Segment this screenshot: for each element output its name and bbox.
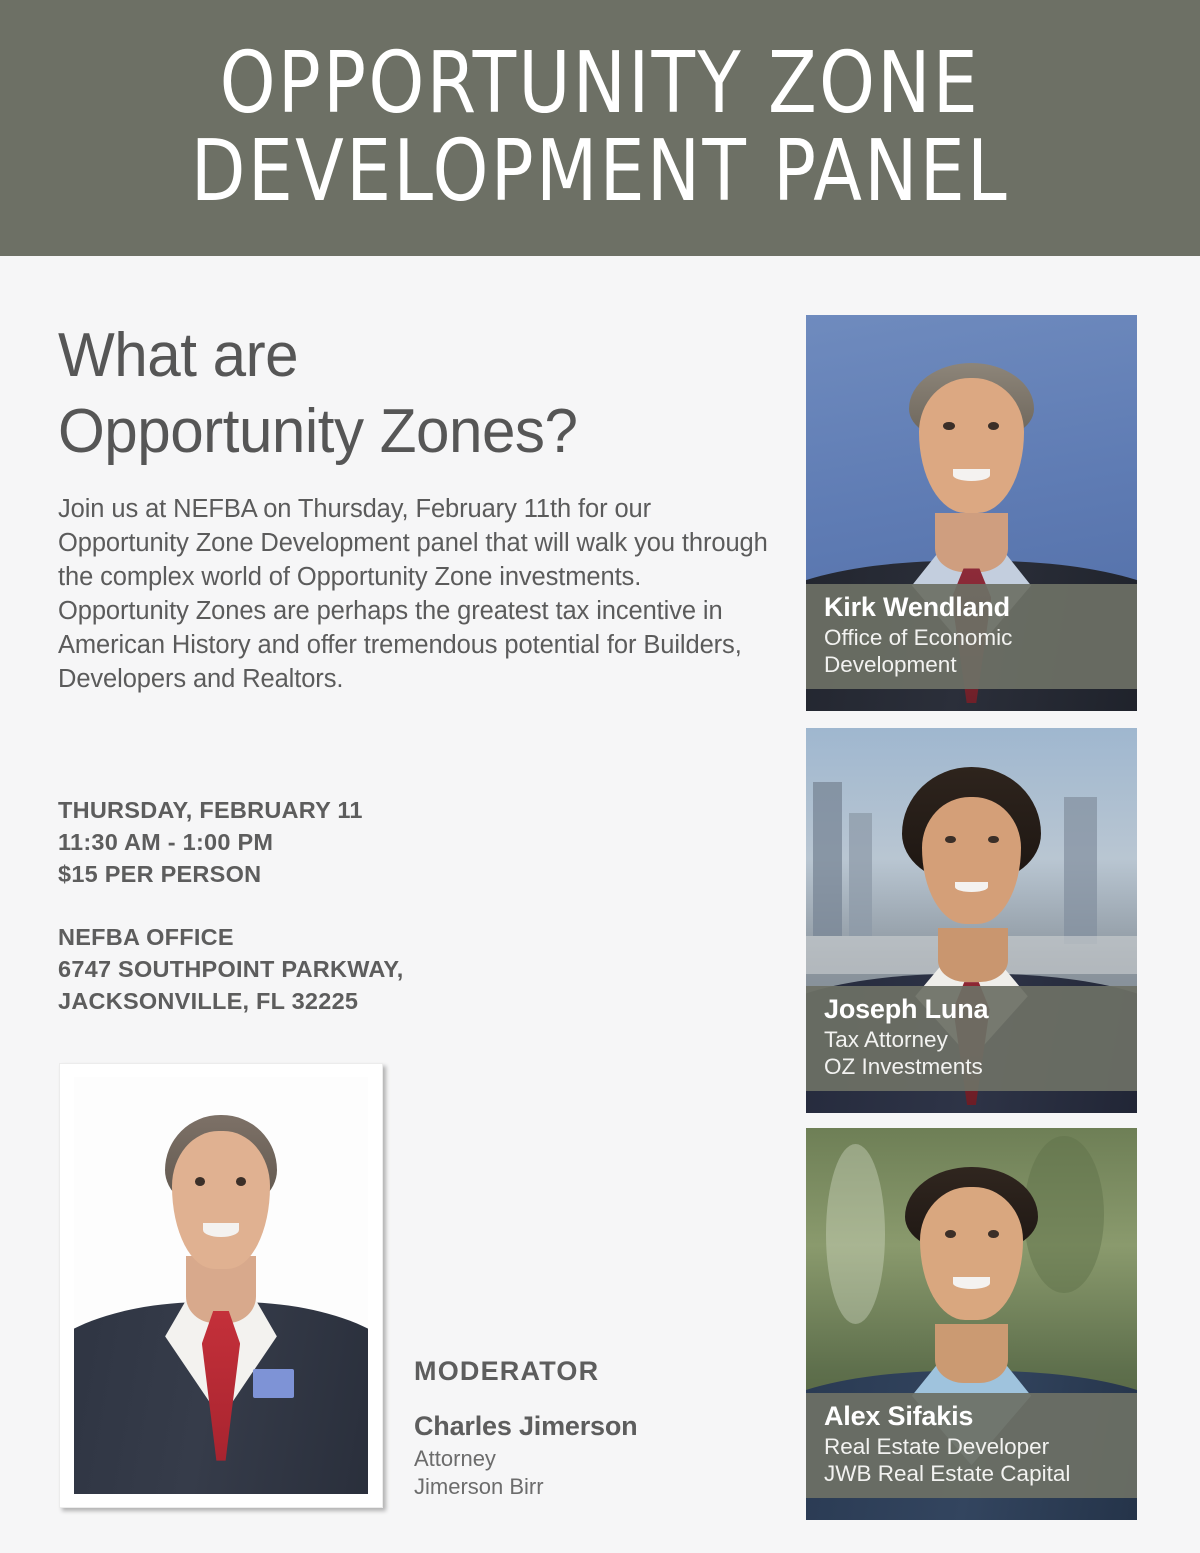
speaker-card: Joseph Luna Tax Attorney OZ Investments (806, 728, 1137, 1113)
moderator-photo-frame (59, 1063, 383, 1508)
moderator-caption: MODERATOR Charles Jimerson Attorney Jime… (414, 1356, 637, 1500)
moderator-photo (74, 1077, 368, 1494)
header-band: OPPORTUNITY ZONE DEVELOPMENT PANEL (0, 0, 1200, 256)
flyer-page: OPPORTUNITY ZONE DEVELOPMENT PANEL What … (0, 0, 1200, 1553)
speaker-role: Tax Attorney OZ Investments (824, 1026, 1123, 1080)
speaker-card: Alex Sifakis Real Estate Developer JWB R… (806, 1128, 1137, 1520)
speaker-name: Kirk Wendland (824, 592, 1123, 623)
intro-paragraph: Join us at NEFBA on Thursday, February 1… (58, 493, 773, 696)
section-heading: What are Opportunity Zones? (58, 318, 756, 469)
speaker-caption: Joseph Luna Tax Attorney OZ Investments (806, 986, 1137, 1091)
speaker-caption: Alex Sifakis Real Estate Developer JWB R… (806, 1393, 1137, 1498)
speaker-caption: Kirk Wendland Office of Economic Develop… (806, 584, 1137, 689)
moderator-label: MODERATOR (414, 1356, 637, 1387)
event-datetime-block: THURSDAY, FEBRUARY 11 11:30 AM - 1:00 PM… (58, 795, 363, 891)
left-content-column: What are Opportunity Zones? Join us at N… (58, 318, 778, 697)
moderator-role: Attorney Jimerson Birr (414, 1445, 637, 1500)
speaker-name: Alex Sifakis (824, 1401, 1123, 1432)
moderator-name: Charles Jimerson (414, 1411, 637, 1442)
speaker-role: Real Estate Developer JWB Real Estate Ca… (824, 1433, 1123, 1487)
speaker-name: Joseph Luna (824, 994, 1123, 1025)
speaker-role: Office of Economic Development (824, 624, 1123, 678)
speaker-card: Kirk Wendland Office of Economic Develop… (806, 315, 1137, 711)
event-location-block: NEFBA OFFICE 6747 SOUTHPOINT PARKWAY, JA… (58, 922, 404, 1018)
charles-jimerson-portrait (74, 1077, 368, 1494)
page-title: OPPORTUNITY ZONE DEVELOPMENT PANEL (172, 40, 1027, 215)
